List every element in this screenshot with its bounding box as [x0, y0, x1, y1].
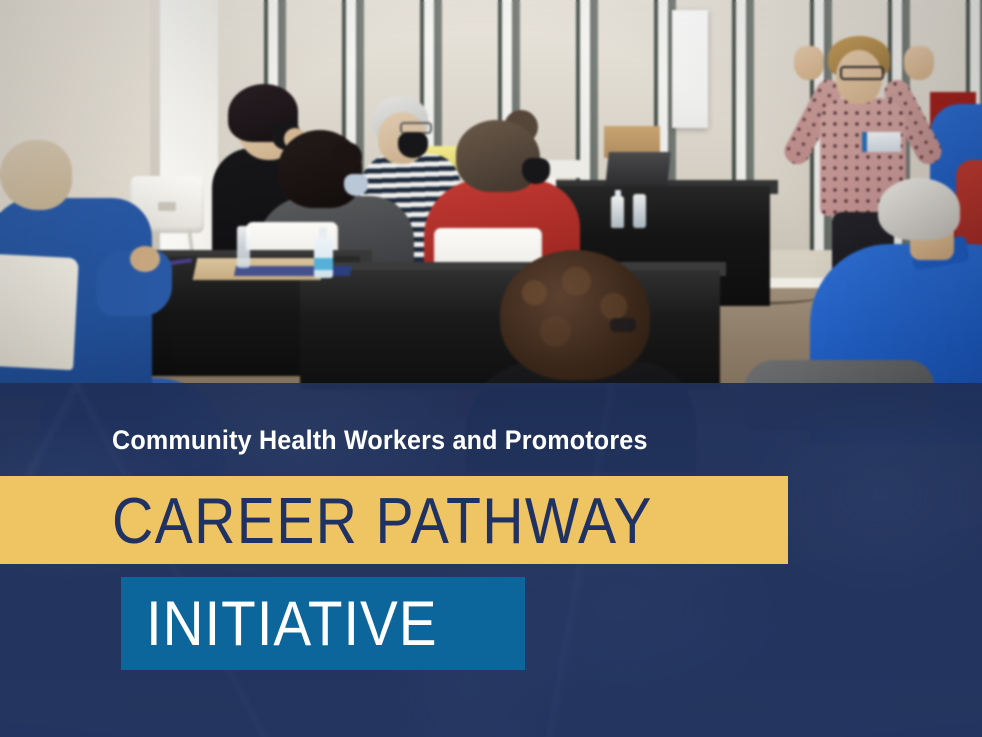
- participant-face-mask: [344, 174, 368, 196]
- water-bottle: [633, 194, 646, 228]
- participant-face-mask: [522, 158, 550, 184]
- chair-towel: [0, 254, 79, 370]
- participant-curly-hair: [500, 250, 650, 380]
- water-bottle: [611, 196, 624, 228]
- banner-subtitle: Community Health Workers and Promotores: [112, 425, 648, 456]
- banner-title-primary: CAREER PATHWAY: [112, 478, 653, 562]
- presenter-glasses: [840, 66, 884, 80]
- participant-hand: [130, 246, 160, 272]
- laptop: [605, 152, 671, 186]
- career-pathway-initiative-banner: Community Health Workers and Promotores …: [0, 0, 982, 737]
- hand-sanitizer-bottle: [314, 238, 333, 278]
- flipchart-paper: [672, 10, 708, 128]
- participant-glasses: [610, 318, 636, 332]
- presenter-hand-left: [794, 46, 824, 80]
- presenter-hand-right: [904, 46, 934, 80]
- presenter-name-badge: [862, 132, 901, 152]
- participant-hair-bun: [332, 142, 362, 172]
- participant-hair-grey: [878, 178, 960, 240]
- tabletop-paper: [234, 266, 352, 276]
- banner-title-secondary: INITIATIVE: [146, 578, 437, 669]
- water-bottle: [237, 226, 250, 268]
- participant-head-blonde: [0, 140, 72, 210]
